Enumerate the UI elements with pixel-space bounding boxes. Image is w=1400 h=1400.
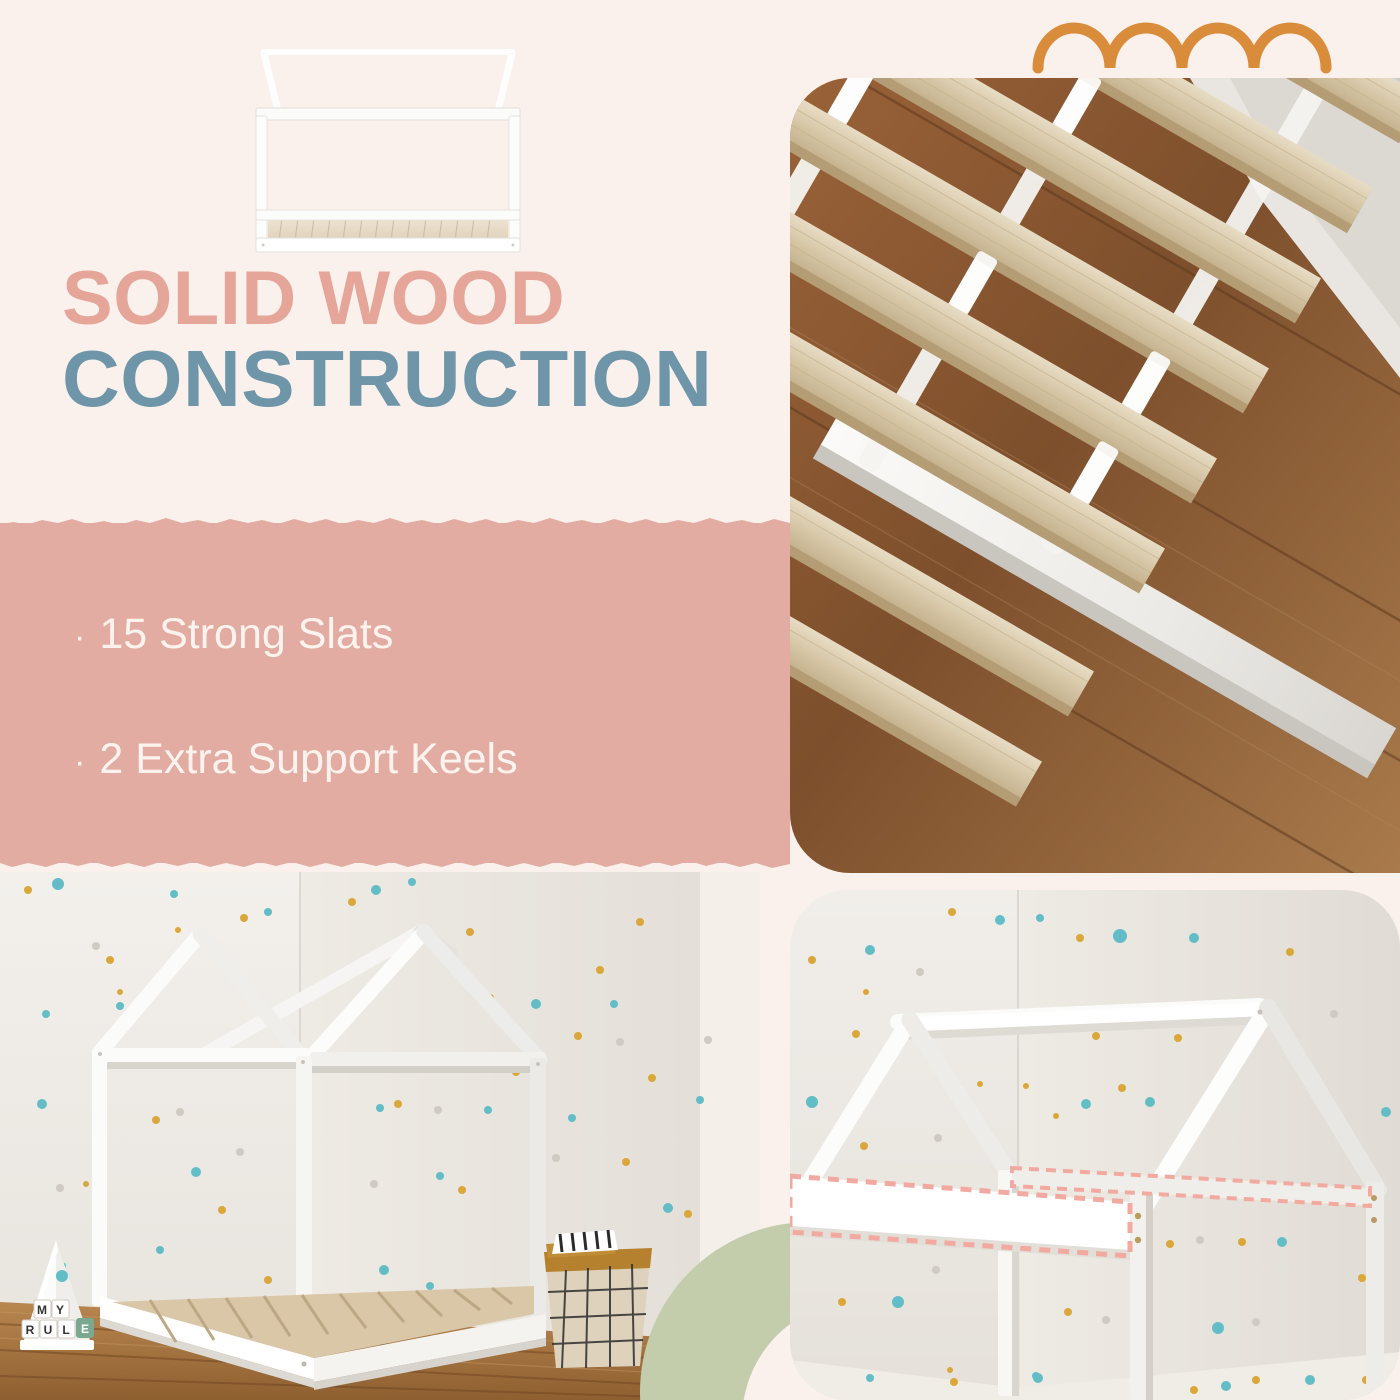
svg-text:U: U (44, 1323, 53, 1337)
svg-text:M: M (37, 1303, 47, 1317)
support-keels-closeup-photo (790, 890, 1400, 1400)
wavy-arches-icon (1030, 8, 1360, 74)
kids-room-bed-photo: M Y R U L E (0, 872, 760, 1400)
features-banner: · 15 Strong Slats · 2 Extra Support Keel… (0, 505, 790, 880)
bullet-dot-icon: · (74, 620, 85, 654)
headline-line-2: CONSTRUCTION (62, 340, 762, 418)
list-item: · 2 Extra Support Keels (74, 738, 774, 781)
list-item: · 15 Strong Slats (74, 613, 774, 656)
svg-text:Y: Y (56, 1303, 64, 1317)
infographic-canvas: SOLID WOOD CONSTRUCTION · 15 Strong Slat… (0, 0, 1400, 1400)
house-bed-frame-render (238, 38, 538, 270)
wood-slats-closeup-photo (790, 78, 1400, 873)
bullet-label: 15 Strong Slats (99, 613, 393, 656)
bullet-label: 2 Extra Support Keels (99, 738, 517, 781)
svg-text:R: R (26, 1323, 35, 1337)
svg-text:E: E (81, 1322, 89, 1336)
banner-torn-top-edge (0, 505, 790, 535)
headline-block: SOLID WOOD CONSTRUCTION (62, 262, 762, 419)
bullet-dot-icon: · (74, 745, 85, 779)
headline-line-1: SOLID WOOD (62, 262, 762, 336)
svg-text:L: L (62, 1323, 69, 1337)
feature-bullet-list: · 15 Strong Slats · 2 Extra Support Keel… (74, 613, 774, 781)
